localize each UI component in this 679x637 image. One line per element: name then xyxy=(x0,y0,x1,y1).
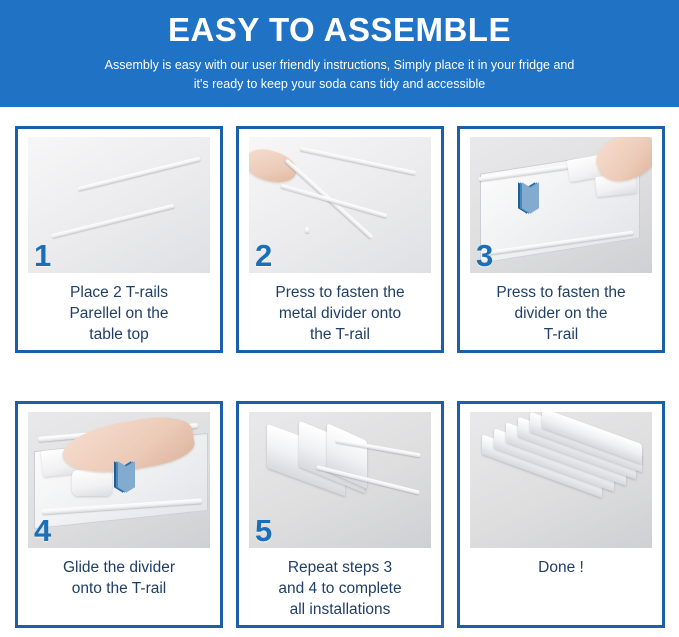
step-3-caption-line-2: divider on the xyxy=(467,303,655,324)
step-1-caption-line-3: table top xyxy=(25,324,213,345)
step-card-5: 5 Repeat steps 3 and 4 to complete all i… xyxy=(236,401,444,628)
step-2-caption-line-3: the T-rail xyxy=(246,324,434,345)
step-5-caption: Repeat steps 3 and 4 to complete all ins… xyxy=(246,557,434,620)
step-card-6: Done ! xyxy=(457,401,665,628)
step-6-caption: Done ! xyxy=(467,557,655,578)
step-card-3: 3 Press to fasten the divider on the T-r… xyxy=(457,126,665,353)
step-3-number: 3 xyxy=(476,240,493,271)
step-1-caption-line-1: Place 2 T-rails xyxy=(25,282,213,303)
step-4-caption-line-1: Glide the divider xyxy=(25,557,213,578)
step-6-photo xyxy=(470,412,652,548)
step-2-caption: Press to fasten the metal divider onto t… xyxy=(246,282,434,345)
step-2-caption-line-2: metal divider onto xyxy=(246,303,434,324)
step-5-photo: 5 xyxy=(249,412,431,548)
step-3-caption-line-3: T-rail xyxy=(467,324,655,345)
step-2-photo: 2 xyxy=(249,137,431,273)
step-3-caption-line-1: Press to fasten the xyxy=(467,282,655,303)
step-5-number: 5 xyxy=(255,515,272,546)
step-6-caption-line-1: Done ! xyxy=(467,557,655,578)
step-1-caption: Place 2 T-rails Parellel on the table to… xyxy=(25,282,213,345)
step-1-number: 1 xyxy=(34,240,51,271)
step-4-caption: Glide the divider onto the T-rail xyxy=(25,557,213,599)
step-card-1: 1 Place 2 T-rails Parellel on the table … xyxy=(15,126,223,353)
page-title: EASY TO ASSEMBLE xyxy=(168,10,511,50)
step-1-caption-line-2: Parellel on the xyxy=(25,303,213,324)
header-subtitle-line-1: Assembly is easy with our user friendly … xyxy=(105,56,575,75)
assembly-steps-grid: 1 Place 2 T-rails Parellel on the table … xyxy=(15,126,665,628)
step-3-caption: Press to fasten the divider on the T-rai… xyxy=(467,282,655,345)
step-5-caption-line-3: all installations xyxy=(246,599,434,620)
header-subtitle: Assembly is easy with our user friendly … xyxy=(105,56,575,94)
header-banner: EASY TO ASSEMBLE Assembly is easy with o… xyxy=(0,0,679,107)
step-1-photo: 1 xyxy=(28,137,210,273)
step-card-2: 2 Press to fasten the metal divider onto… xyxy=(236,126,444,353)
step-card-4: 4 Glide the divider onto the T-rail xyxy=(15,401,223,628)
header-subtitle-line-2: it's ready to keep your soda cans tidy a… xyxy=(105,75,575,94)
step-3-photo: 3 xyxy=(470,137,652,273)
step-5-caption-line-2: and 4 to complete xyxy=(246,578,434,599)
step-2-number: 2 xyxy=(255,240,272,271)
step-2-caption-line-1: Press to fasten the xyxy=(246,282,434,303)
step-4-photo: 4 xyxy=(28,412,210,548)
step-5-caption-line-1: Repeat steps 3 xyxy=(246,557,434,578)
step-4-number: 4 xyxy=(34,515,51,546)
step-4-caption-line-2: onto the T-rail xyxy=(25,578,213,599)
